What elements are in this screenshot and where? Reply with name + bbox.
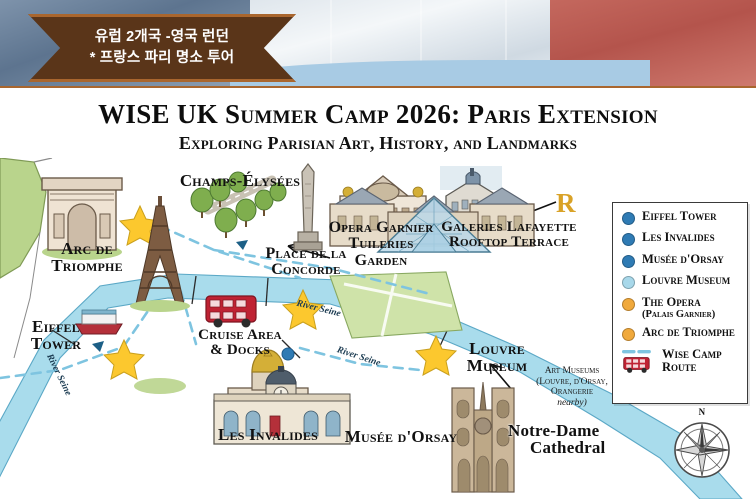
legend-item-louvre-museum[interactable]: Louvre Museum <box>613 274 747 289</box>
legend-route-label: Wise Camp Route <box>662 348 722 374</box>
map-label-opera-garnier: Opera Garnier Tuileries Garden <box>326 220 436 269</box>
page-subtitle: Exploring Parisian Art, History, and Lan… <box>0 133 756 154</box>
legend-item-eiffel-tower[interactable]: Eiffel Tower <box>613 210 747 225</box>
legend-item-les-invalides[interactable]: Les Invalides <box>613 231 747 246</box>
label-line: Opera Garnier <box>326 220 436 236</box>
label-line: Garden <box>326 253 436 269</box>
legend-label: Eiffel Tower <box>642 210 717 223</box>
route-bus-icon <box>622 348 656 379</box>
rooftop-terrace-marker: R <box>556 188 576 219</box>
map-label-eiffel-tower: Eiffel Tower <box>8 318 104 353</box>
label-line: Tuileries <box>326 236 436 252</box>
map-label-champs-elysees: Champs-Élysées <box>140 172 340 189</box>
eiffel-lawn <box>134 378 186 394</box>
ribbon-line-2: * 프랑스 파리 명소 투어 <box>90 48 235 69</box>
map-label-musee-dorsay: Musée d'Orsay <box>326 428 476 445</box>
legend-dot-icon <box>622 212 635 225</box>
route-label-line: Route <box>662 360 697 374</box>
page-title: WISE UK Summer Camp 2026: Paris Extensio… <box>0 99 756 130</box>
label-line: Notre-Dame <box>508 422 628 439</box>
legend-dot-icon <box>622 328 635 341</box>
label-line: Musée d'Orsay <box>326 428 476 445</box>
map-label-galeries-lafayette: Galeries Lafayette Rooftop Terrace <box>434 220 584 251</box>
map-label-arc-de-triomphe: Arc de Triomphe <box>22 240 152 275</box>
legend-dot-icon <box>622 298 635 311</box>
legend-item-arc-de-triomphe[interactable]: Arc de Triomphe <box>613 326 747 341</box>
label-line: Les Invalides <box>198 426 338 443</box>
legend-dot-icon <box>622 276 635 289</box>
legend-label: Les Invalides <box>642 231 715 244</box>
label-line: Arc de <box>22 240 152 257</box>
legend-label: Louvre Museum <box>642 274 730 287</box>
ribbon-line-1: 유럽 2개국 -영국 런던 <box>95 27 229 48</box>
header-banner: 유럽 2개국 -영국 런던 * 프랑스 파리 명소 투어 <box>0 0 756 88</box>
label-line: Rooftop Terrace <box>434 235 584 250</box>
legend-dot-icon <box>622 233 635 246</box>
legend-item-musee-dorsay[interactable]: Musée d'Orsay <box>613 253 747 268</box>
map-legend: Eiffel Tower Les Invalides Musée d'Orsay… <box>612 202 748 404</box>
compass-north-label: N <box>686 408 718 417</box>
legend-dot-icon <box>622 255 635 268</box>
label-line: Louvre <box>442 340 552 357</box>
compass-rose <box>675 423 729 477</box>
paris-tour-map-poster: 유럽 2개국 -영국 런던 * 프랑스 파리 명소 투어 WISE UK Sum… <box>0 0 756 499</box>
label-line: & Docks <box>176 343 304 358</box>
legend-label: Arc de Triomphe <box>642 326 735 339</box>
map-label-cruise-area: Cruise Area & Docks <box>176 328 304 359</box>
legend-item-wise-camp-route[interactable]: Wise Camp Route <box>613 348 747 379</box>
label-line: Triomphe <box>22 257 152 274</box>
tour-title-ribbon: 유럽 2개국 -영국 런던 * 프랑스 파리 명소 투어 <box>28 14 296 82</box>
label-line: Champs-Élysées <box>140 172 340 189</box>
banner-underline <box>0 86 756 88</box>
label-line: Cruise Area <box>176 328 304 343</box>
annotation-line: nearby) <box>557 398 587 408</box>
route-label-line: Wise Camp <box>662 347 722 361</box>
map-canvas: N Arc de Triomphe Champs-Élysées Place d… <box>0 158 756 499</box>
legend-label: Musée d'Orsay <box>642 253 724 266</box>
legend-item-the-opera[interactable]: The Opera (Palais Garnier) <box>613 296 747 320</box>
map-label-les-invalides: Les Invalides <box>198 426 338 443</box>
label-line: Galeries Lafayette <box>434 220 584 235</box>
label-line: Cathedral <box>508 439 628 456</box>
label-line: Eiffel <box>8 318 104 335</box>
map-label-notre-dame: Notre-Dame Cathedral <box>508 422 628 457</box>
double-decker-bus-icon <box>206 296 256 328</box>
label-line: Tower <box>8 335 104 352</box>
legend-label-sub: (Palais Garnier) <box>642 309 715 320</box>
legend-label: The Opera (Palais Garnier) <box>642 296 715 320</box>
legend-label-main: The Opera <box>642 295 701 309</box>
